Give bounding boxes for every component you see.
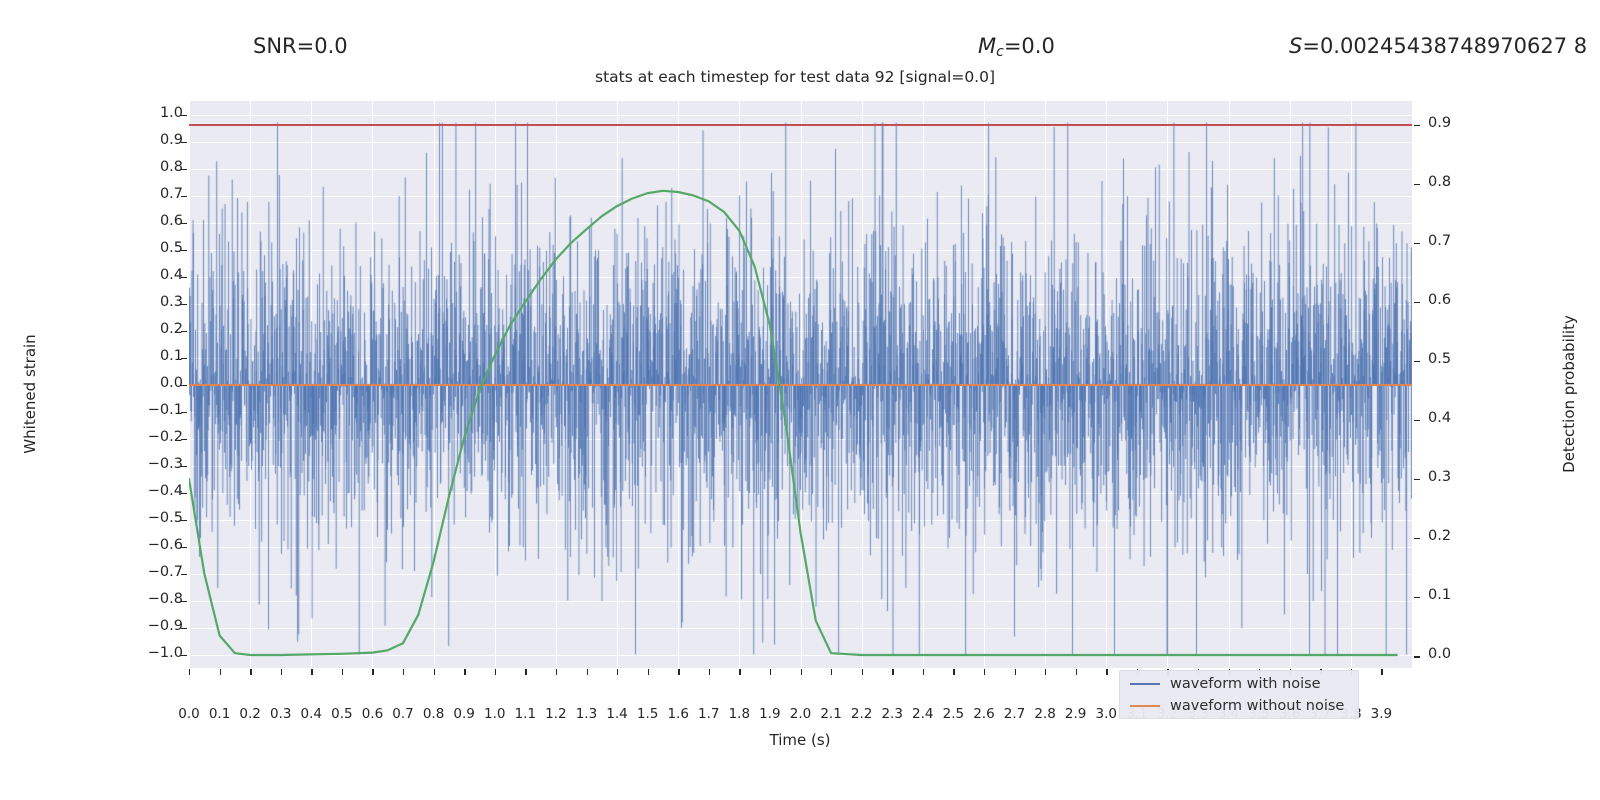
y-axis-right-ticklabel: 0.8 [1428, 174, 1451, 190]
chirp-mass-symbol: M [978, 34, 996, 58]
tick-mark [1414, 125, 1420, 126]
figure: SNR=0.0 Mc=0.0 S=0.00245438748970627 8 s… [0, 0, 1600, 800]
y-axis-left-ticklabel: −0.4 [148, 483, 183, 499]
tick-mark [587, 669, 588, 675]
detection-probability-series [189, 101, 1412, 668]
tick-mark [923, 669, 924, 675]
y-axis-left-ticklabel: 1.0 [160, 105, 183, 121]
chirp-mass-value: =0.0 [1004, 34, 1055, 58]
tick-mark [1414, 479, 1420, 480]
y-axis-right-ticklabel: 0.3 [1428, 469, 1451, 485]
tick-mark [525, 669, 526, 675]
legend-swatch-icon [1130, 683, 1160, 685]
y-axis-left-ticklabel: 0.4 [160, 267, 183, 283]
y-axis-left-label: Whitened strain [21, 214, 39, 574]
tick-mark [1015, 669, 1016, 675]
tick-mark [1076, 669, 1077, 675]
y-axis-right-ticklabel: 0.4 [1428, 410, 1451, 426]
y-axis-left-ticklabel: −0.5 [148, 510, 183, 526]
tick-mark [372, 669, 373, 675]
y-axis-left-ticklabel: 0.8 [160, 159, 183, 175]
y-axis-left-ticklabel: −0.1 [148, 402, 183, 418]
tick-mark [311, 669, 312, 675]
y-axis-left-ticklabel: −0.8 [148, 591, 183, 607]
tick-mark [678, 669, 679, 675]
tick-mark [739, 669, 740, 675]
tick-mark [1106, 669, 1107, 675]
suptitle-s-statistic: S=0.00245438748970627 8 [1289, 34, 1587, 58]
y-axis-left-ticklabel: −0.6 [148, 537, 183, 553]
legend-label: waveform with noise [1170, 676, 1321, 692]
tick-mark [1414, 243, 1420, 244]
legend: waveform with noise waveform without noi… [1119, 670, 1359, 719]
legend-swatch-icon [1130, 705, 1160, 707]
tick-mark [984, 669, 985, 675]
y-axis-right-label: Detection probability [1560, 214, 1578, 574]
x-axis-label: Time (s) [0, 731, 1600, 749]
x-axis-ticklabel: 3.9 [1361, 706, 1401, 722]
y-axis-left-ticklabel: 0.0 [160, 375, 183, 391]
tick-mark [617, 669, 618, 675]
y-axis-left-ticklabel: −0.7 [148, 564, 183, 580]
suptitle-chirp-mass: Mc=0.0 [978, 34, 1055, 60]
y-axis-left-ticklabel: 0.1 [160, 348, 183, 364]
tick-mark [403, 669, 404, 675]
tick-mark [342, 669, 343, 675]
tick-mark [250, 669, 251, 675]
y-axis-right-ticklabel: 0.2 [1428, 528, 1451, 544]
tick-mark [801, 669, 802, 675]
axes-title: stats at each timestep for test data 92 … [595, 68, 995, 86]
tick-mark [464, 669, 465, 675]
tick-mark [1414, 302, 1420, 303]
y-axis-right-ticklabel: 0.7 [1428, 233, 1451, 249]
y-axis-right-ticklabel: 0.1 [1428, 587, 1451, 603]
tick-mark [220, 669, 221, 675]
y-axis-right-ticklabel: 0.9 [1428, 115, 1451, 131]
tick-mark [648, 669, 649, 675]
detection-threshold-line [189, 124, 1412, 126]
tick-mark [1414, 656, 1420, 657]
legend-item: waveform without noise [1130, 695, 1344, 717]
s-symbol: S [1289, 34, 1302, 58]
y-axis-left-ticklabel: 0.9 [160, 132, 183, 148]
y-axis-right-ticklabel: 0.5 [1428, 351, 1451, 367]
tick-mark [434, 669, 435, 675]
legend-label: waveform without noise [1170, 698, 1344, 714]
y-axis-left-ticklabel: −1.0 [148, 645, 183, 661]
y-axis-left-ticklabel: −0.3 [148, 456, 183, 472]
y-axis-left-ticklabel: 0.7 [160, 186, 183, 202]
y-axis-left-ticklabel: −0.9 [148, 618, 183, 634]
y-axis-right-ticklabel: 0.6 [1428, 292, 1451, 308]
tick-mark [1414, 538, 1420, 539]
plot-area [189, 101, 1412, 668]
y-axis-left-ticklabel: 0.6 [160, 213, 183, 229]
tick-mark [892, 669, 893, 675]
tick-mark [189, 669, 190, 675]
y-axis-left-ticklabel: 0.3 [160, 294, 183, 310]
tick-mark [709, 669, 710, 675]
y-axis-left-ticklabel: 0.2 [160, 321, 183, 337]
tick-mark [831, 669, 832, 675]
y-axis-right-ticklabel: 0.0 [1428, 646, 1451, 662]
tick-mark [953, 669, 954, 675]
legend-item: waveform with noise [1130, 673, 1321, 695]
tick-mark [1414, 184, 1420, 185]
tick-mark [862, 669, 863, 675]
suptitle-snr: SNR=0.0 [253, 34, 348, 58]
s-value: =0.00245438748970627 8 [1302, 34, 1587, 58]
tick-mark [770, 669, 771, 675]
tick-mark [556, 669, 557, 675]
tick-mark [281, 669, 282, 675]
tick-mark [1414, 420, 1420, 421]
tick-mark [1414, 361, 1420, 362]
tick-mark [1414, 597, 1420, 598]
chirp-mass-subscript: c [996, 44, 1004, 60]
y-axis-left-ticklabel: −0.2 [148, 429, 183, 445]
tick-mark [495, 669, 496, 675]
y-axis-left-ticklabel: 0.5 [160, 240, 183, 256]
tick-mark [1045, 669, 1046, 675]
tick-mark [1381, 669, 1382, 675]
